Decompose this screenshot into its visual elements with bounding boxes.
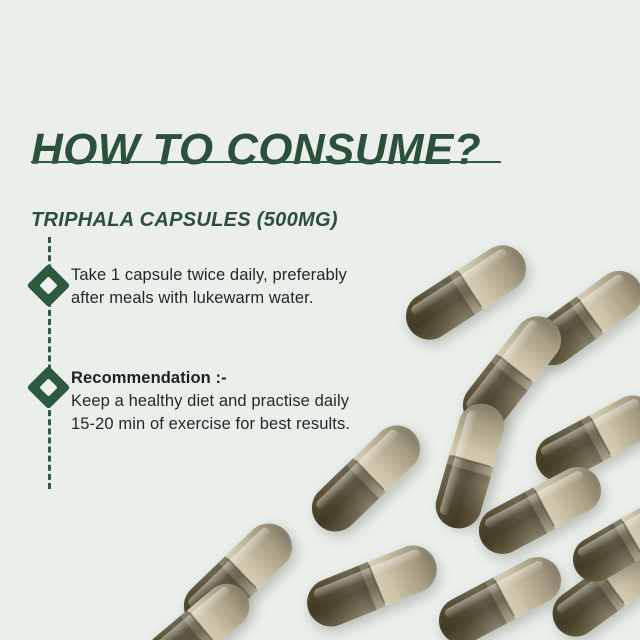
capsule-pill (565, 491, 640, 590)
page-title: HOW TO CONSUME? (31, 127, 481, 173)
diamond-bullet-icon (27, 366, 71, 410)
diamond-bullet-icon (27, 264, 71, 308)
capsule-gloss (539, 397, 640, 457)
instruction-line: Keep a healthy diet and practise daily (71, 390, 451, 413)
title-divider (31, 161, 501, 163)
how-to-consume-poster: HOW TO CONSUME? TRIPHALA CAPSULES (500MG… (0, 0, 640, 640)
instruction-line: after meals with lukewarm water. (71, 287, 451, 310)
capsule-gloss (555, 545, 640, 615)
instruction-heading-recommendation: Recommendation :- (71, 369, 227, 387)
capsule-gloss (576, 500, 640, 559)
diamond-bullet-inner (39, 276, 57, 294)
instruction-body-recommendation: Keep a healthy diet and practise daily 1… (71, 390, 451, 436)
instruction-text-recommendation: Recommendation :- Keep a healthy diet an… (71, 366, 451, 436)
capsule-gloss (532, 272, 625, 343)
product-subtitle: TRIPHALA CAPSULES (500MG) (31, 208, 338, 232)
capsule-pill (544, 534, 640, 640)
instruction-body-dosage: Take 1 capsule twice daily, preferably a… (71, 264, 451, 310)
instruction-line: 15-20 min of exercise for best results. (71, 413, 451, 436)
instruction-text-dosage: Take 1 capsule twice daily, preferably a… (71, 264, 451, 310)
capsule-pill (521, 262, 640, 374)
capsule-pill (528, 387, 640, 490)
instruction-line: Take 1 capsule twice daily, preferably (71, 264, 451, 287)
content-column: HOW TO CONSUME? TRIPHALA CAPSULES (500MG… (0, 0, 520, 640)
diamond-bullet-inner (39, 378, 57, 396)
